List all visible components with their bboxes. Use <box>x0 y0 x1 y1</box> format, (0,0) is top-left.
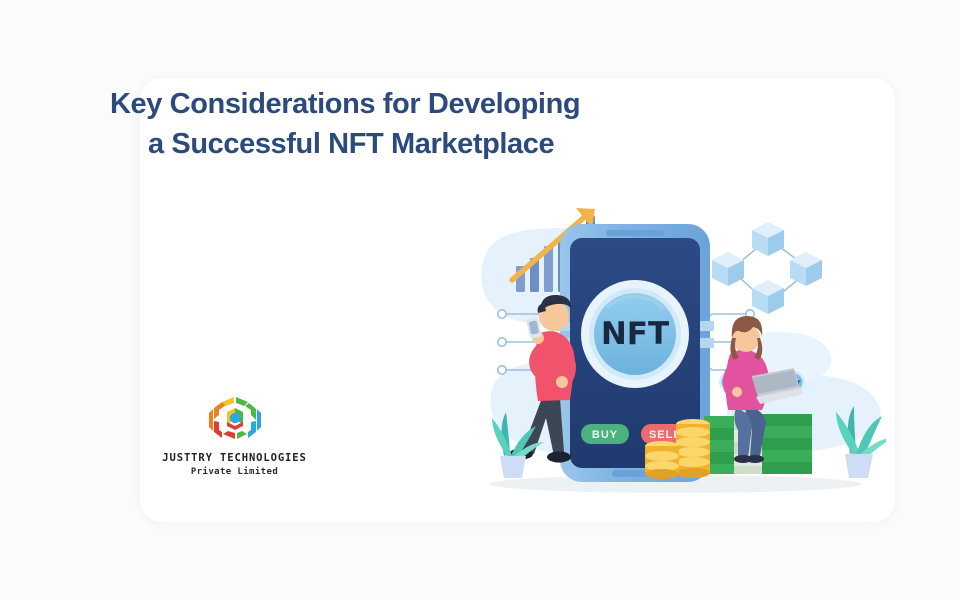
brand-logo-block: JUSTTRY TECHNOLOGIES Private Limited <box>152 392 317 477</box>
page-title: Key Considerations for Developing a Succ… <box>110 84 670 164</box>
brand-name: JUSTTRY TECHNOLOGIES <box>152 452 317 464</box>
screenshot-root: Key Considerations for Developing a Succ… <box>0 0 960 600</box>
buy-button[interactable]: BUY <box>581 424 629 444</box>
headline-line-1: Key Considerations for Developing <box>110 88 580 120</box>
buy-button-label: BUY <box>592 429 618 441</box>
headline-line-2: a Successful NFT Marketplace <box>110 124 670 164</box>
nft-coin-label: NFT <box>601 316 669 352</box>
nft-coin: NFT <box>581 280 689 388</box>
blockchain-cube-network <box>712 222 822 314</box>
nft-marketplace-illustration: NFT BUY SELL NFT <box>464 166 886 516</box>
hexagon-chevron-logo-icon <box>204 392 266 448</box>
brand-subtitle: Private Limited <box>152 467 317 477</box>
coin-stack-short <box>645 441 679 479</box>
coin-stack-tall <box>676 419 710 478</box>
